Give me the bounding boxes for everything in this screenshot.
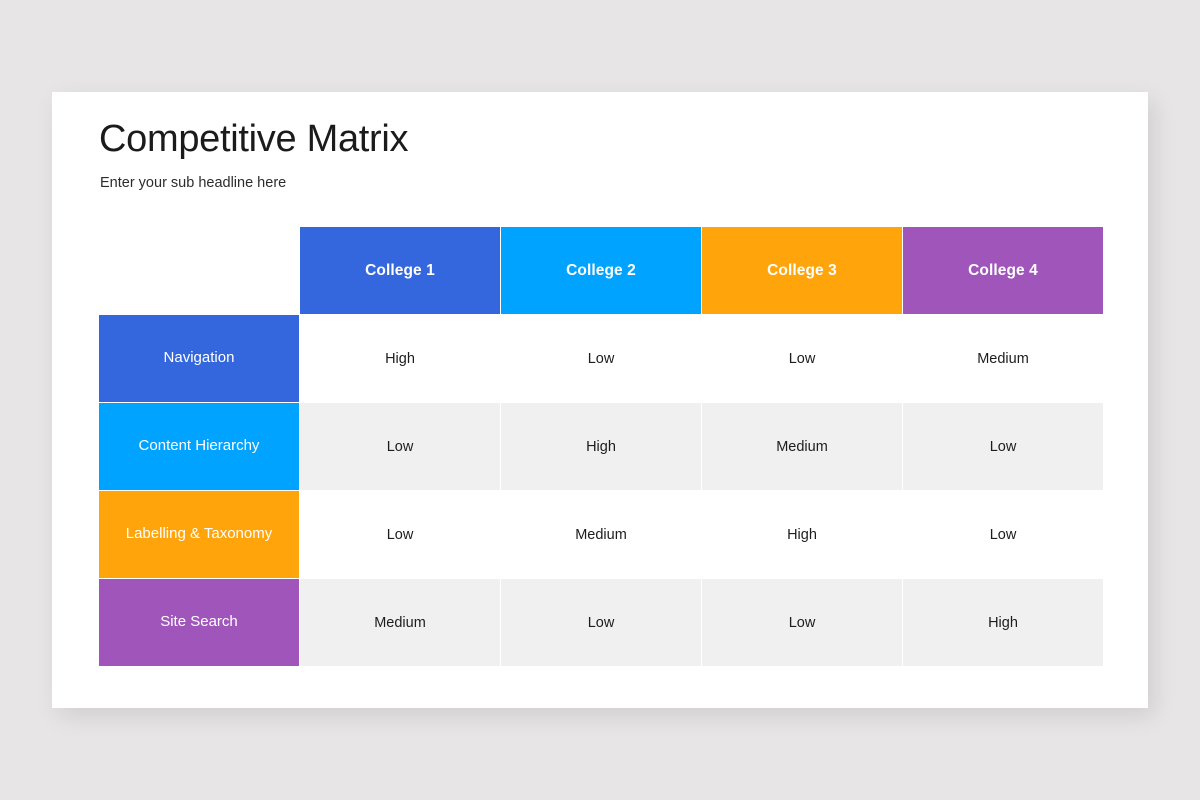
column-header-college-2[interactable]: College 2 bbox=[501, 227, 701, 314]
column-header-college-1[interactable]: College 1 bbox=[300, 227, 500, 314]
column-header-college-4[interactable]: College 4 bbox=[903, 227, 1103, 314]
table-cell: Medium bbox=[903, 315, 1103, 402]
table-cell: High bbox=[903, 579, 1103, 666]
column-header-college-3[interactable]: College 3 bbox=[702, 227, 902, 314]
table-cell: Low bbox=[702, 579, 902, 666]
table-cell: Medium bbox=[300, 579, 500, 666]
table-cell: Low bbox=[903, 491, 1103, 578]
table-cell: Low bbox=[501, 315, 701, 402]
row-header-content-hierarchy[interactable]: Content Hierarchy bbox=[99, 403, 299, 490]
row-header-labelling-taxonomy[interactable]: Labelling & Taxonomy bbox=[99, 491, 299, 578]
table-cell: High bbox=[702, 491, 902, 578]
table-cell: High bbox=[501, 403, 701, 490]
row-header-navigation[interactable]: Navigation bbox=[99, 315, 299, 402]
row-header-site-search[interactable]: Site Search bbox=[99, 579, 299, 666]
table-cell: Medium bbox=[501, 491, 701, 578]
table-corner-cell bbox=[99, 227, 299, 314]
page-title: Competitive Matrix bbox=[99, 119, 408, 161]
table-cell: Low bbox=[702, 315, 902, 402]
competitive-matrix-table: College 1 College 2 College 3 College 4 … bbox=[99, 227, 1102, 666]
table-cell: Medium bbox=[702, 403, 902, 490]
page-subtitle: Enter your sub headline here bbox=[100, 175, 286, 191]
slide-card: Competitive Matrix Enter your sub headli… bbox=[52, 92, 1148, 708]
table-cell: Low bbox=[903, 403, 1103, 490]
table-cell: Low bbox=[501, 579, 701, 666]
table-cell: Low bbox=[300, 403, 500, 490]
slide-stage: Competitive Matrix Enter your sub headli… bbox=[0, 0, 1200, 800]
table-cell: High bbox=[300, 315, 500, 402]
table-cell: Low bbox=[300, 491, 500, 578]
